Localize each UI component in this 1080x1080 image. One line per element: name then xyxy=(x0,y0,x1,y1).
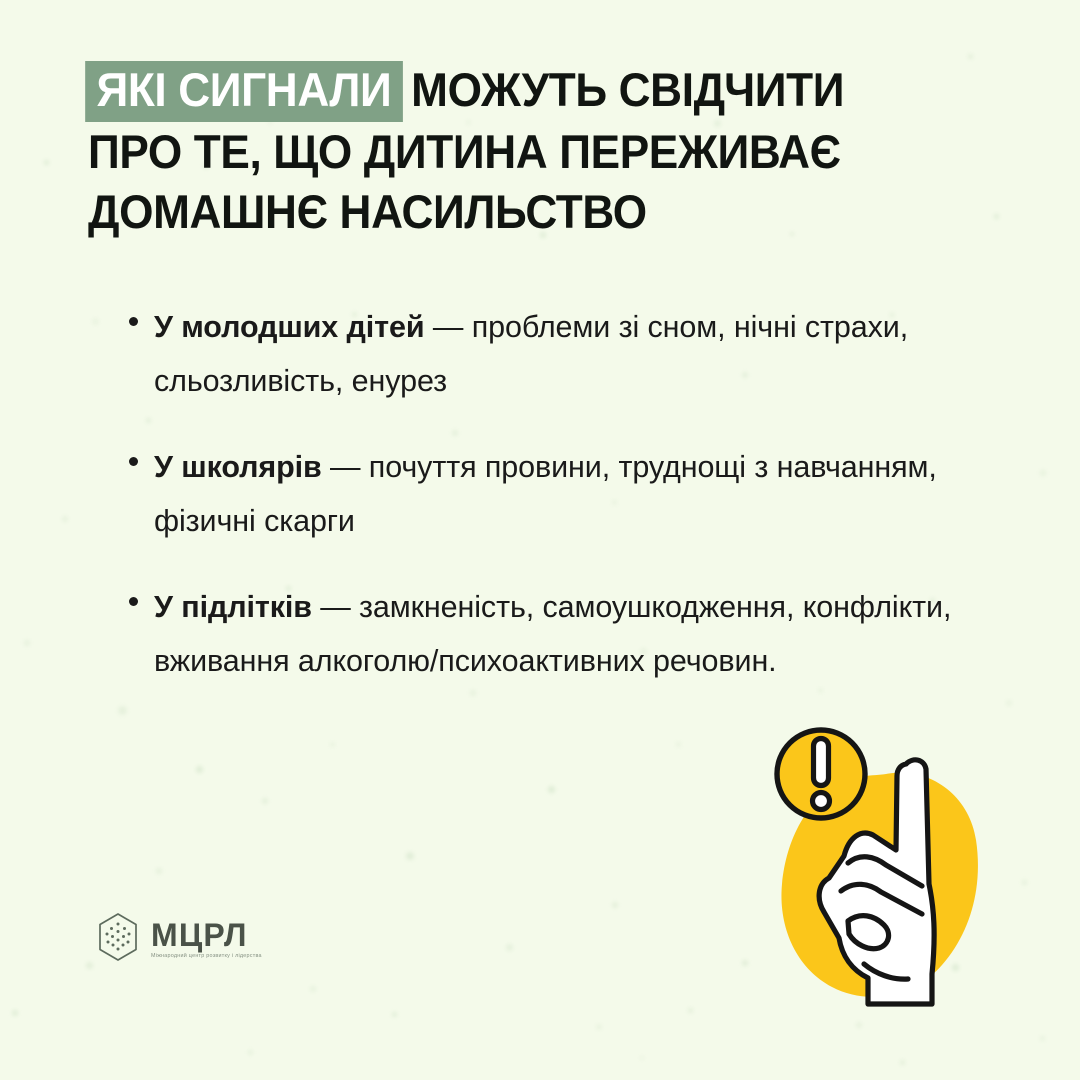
heading-line-2: ПРО ТЕ, ЩО ДИТИНА ПЕРЕЖИВАЄ xyxy=(88,122,934,182)
list-item: У підлітків — замкненість, самоушкодженн… xyxy=(126,580,1026,688)
exclamation-stem-outline xyxy=(814,739,829,786)
page-title: ЯКІ СИГНАЛИМОЖУТЬ СВІДЧИТИ ПРО ТЕ, ЩО ДИ… xyxy=(88,60,988,242)
heading-highlight: ЯКІ СИГНАЛИ xyxy=(85,61,403,122)
list-item: У молодших дітей — проблеми зі сном, ніч… xyxy=(126,300,1026,408)
logo-wordmark: МЦРЛ xyxy=(151,918,262,952)
list-item-lead: У молодших дітей xyxy=(154,310,425,344)
list-item: У школярів — почуття провини, труднощі з… xyxy=(126,440,1026,548)
exclamation-dot xyxy=(813,793,830,810)
bullet-dot-icon xyxy=(129,597,138,606)
heading-line-1: ЯКІ СИГНАЛИМОЖУТЬ СВІДЧИТИ xyxy=(88,60,934,122)
list-item-text: У підлітків — замкненість, самоушкодженн… xyxy=(154,580,1026,688)
heading-line-3: ДОМАШНЄ НАСИЛЬСТВО xyxy=(88,182,934,242)
warning-hand-illustration xyxy=(756,716,1006,1016)
infographic-poster: ЯКІ СИГНАЛИМОЖУТЬ СВІДЧИТИ ПРО ТЕ, ЩО ДИ… xyxy=(0,0,1080,1080)
bullet-dot-icon xyxy=(129,317,138,326)
list-item-lead: У підлітків xyxy=(154,590,312,624)
logo-tagline: Міжнародний центр розвитку і лідерства xyxy=(151,952,262,961)
signals-list: У молодших дітей — проблеми зі сном, ніч… xyxy=(126,300,1026,688)
list-item-text: У школярів — почуття провини, труднощі з… xyxy=(154,440,1026,548)
logo-text-block: МЦРЛ Міжнародний центр розвитку і лідерс… xyxy=(151,918,262,961)
list-item-text: У молодших дітей — проблеми зі сном, ніч… xyxy=(154,300,1026,408)
organization-logo: МЦРЛ Міжнародний центр розвитку і лідерс… xyxy=(96,912,262,967)
heading-line-1-rest: МОЖУТЬ СВІДЧИТИ xyxy=(411,63,844,116)
bullet-dot-icon xyxy=(129,457,138,466)
exclamation-alert-icon xyxy=(777,730,865,818)
hexagon-dots-icon xyxy=(96,912,140,967)
list-item-lead: У школярів xyxy=(154,450,322,484)
